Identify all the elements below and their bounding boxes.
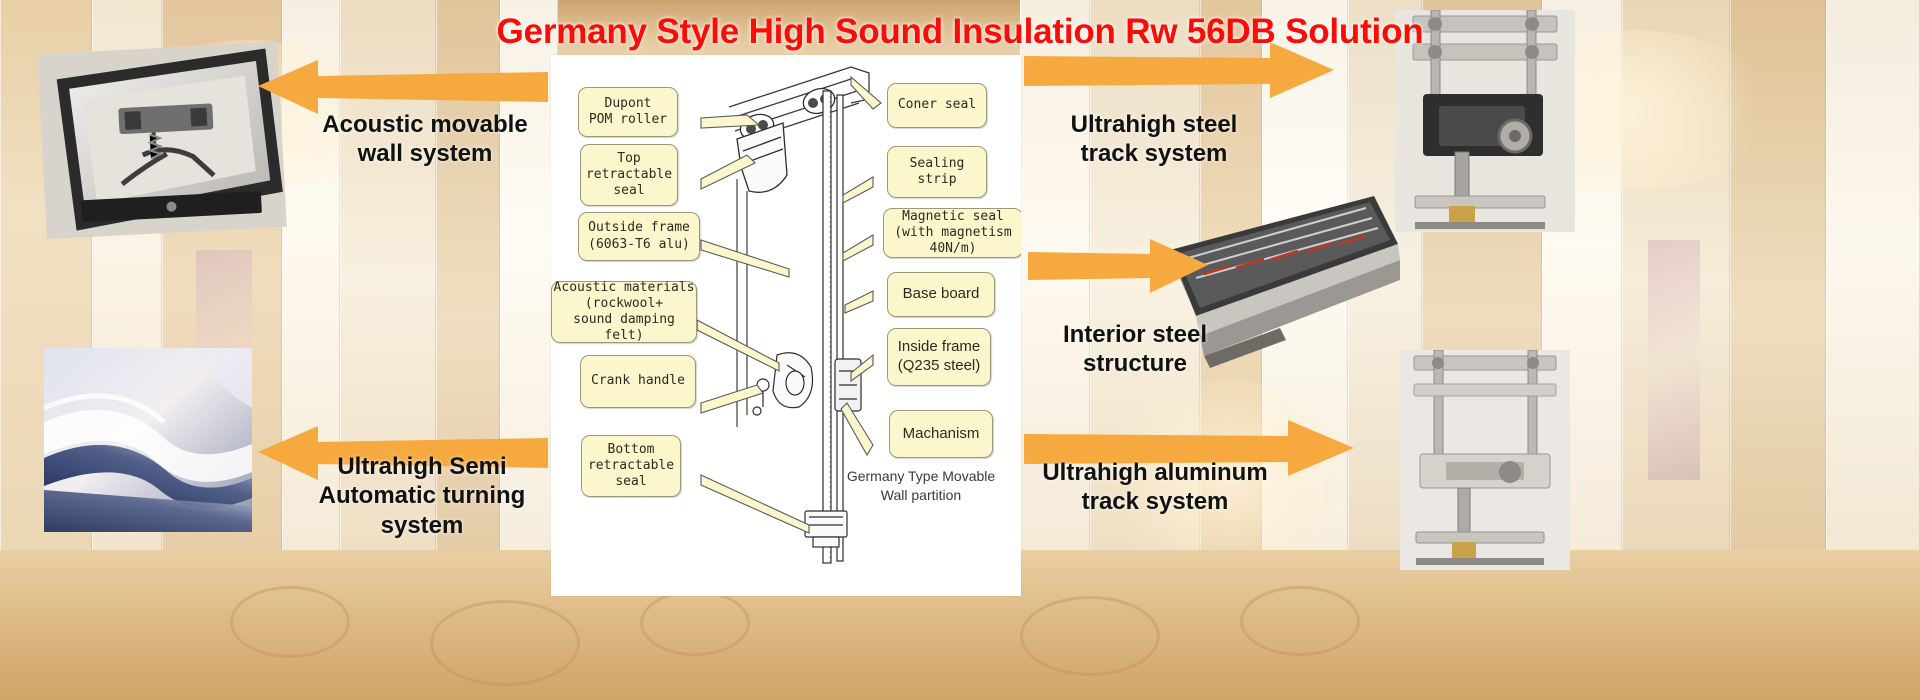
mirror-column: [1648, 240, 1700, 480]
page-title: Germany Style High Sound Insulation Rw 5…: [0, 12, 1920, 52]
callout-magnetic-seal: Magnetic seal (with magnetism 40N/m): [883, 208, 1021, 258]
callout-inside-frame: Inside frame (Q235 steel): [887, 328, 991, 386]
movable-wall-technical-diagram: Dupont POM roller Top retractable seal O…: [551, 55, 1021, 596]
caption-ultrahigh-aluminum-track-system: Ultrahigh aluminum track system: [1010, 458, 1300, 517]
callout-acoustic-materials: Acoustic materials (rockwool+ sound damp…: [551, 281, 697, 343]
arrow-left-top: [258, 58, 548, 116]
acoustic-panel-photo: [37, 42, 286, 239]
arrow-right-middle: [1028, 238, 1208, 294]
callout-dupont-pom-roller: Dupont POM roller: [578, 87, 678, 137]
carpet-pattern: [640, 590, 750, 656]
turning-system-photo: [44, 348, 252, 532]
caption-ultrahigh-steel-track-system: Ultrahigh steel track system: [1024, 110, 1284, 169]
carpet-pattern: [230, 586, 350, 658]
aluminum-track-photo: [1400, 350, 1570, 570]
caption-interior-steel-structure: Interior steel structure: [1010, 320, 1260, 379]
callout-crank-handle: Crank handle: [580, 355, 696, 408]
carpet-pattern: [1020, 596, 1160, 676]
carpet-pattern: [1240, 586, 1360, 656]
callout-sealing-strip: Sealing strip: [887, 146, 987, 198]
callout-bottom-retractable-seal: Bottom retractable seal: [581, 435, 681, 497]
diagram-caption: Germany Type Movable Wall partition: [831, 467, 1011, 505]
carpet-pattern: [430, 600, 580, 686]
callout-base-board: Base board: [887, 272, 995, 317]
callout-coner-seal: Coner seal: [887, 83, 987, 128]
caption-acoustic-movable-wall-system: Acoustic movable wall system: [300, 110, 550, 169]
caption-ultrahigh-semi-automatic-turning-system: Ultrahigh Semi Automatic turning system: [290, 452, 554, 540]
callout-top-retractable-seal: Top retractable seal: [580, 144, 678, 206]
callout-machanism: Machanism: [889, 410, 993, 458]
callout-outside-frame: Outside frame (6063-T6 alu): [578, 212, 700, 261]
